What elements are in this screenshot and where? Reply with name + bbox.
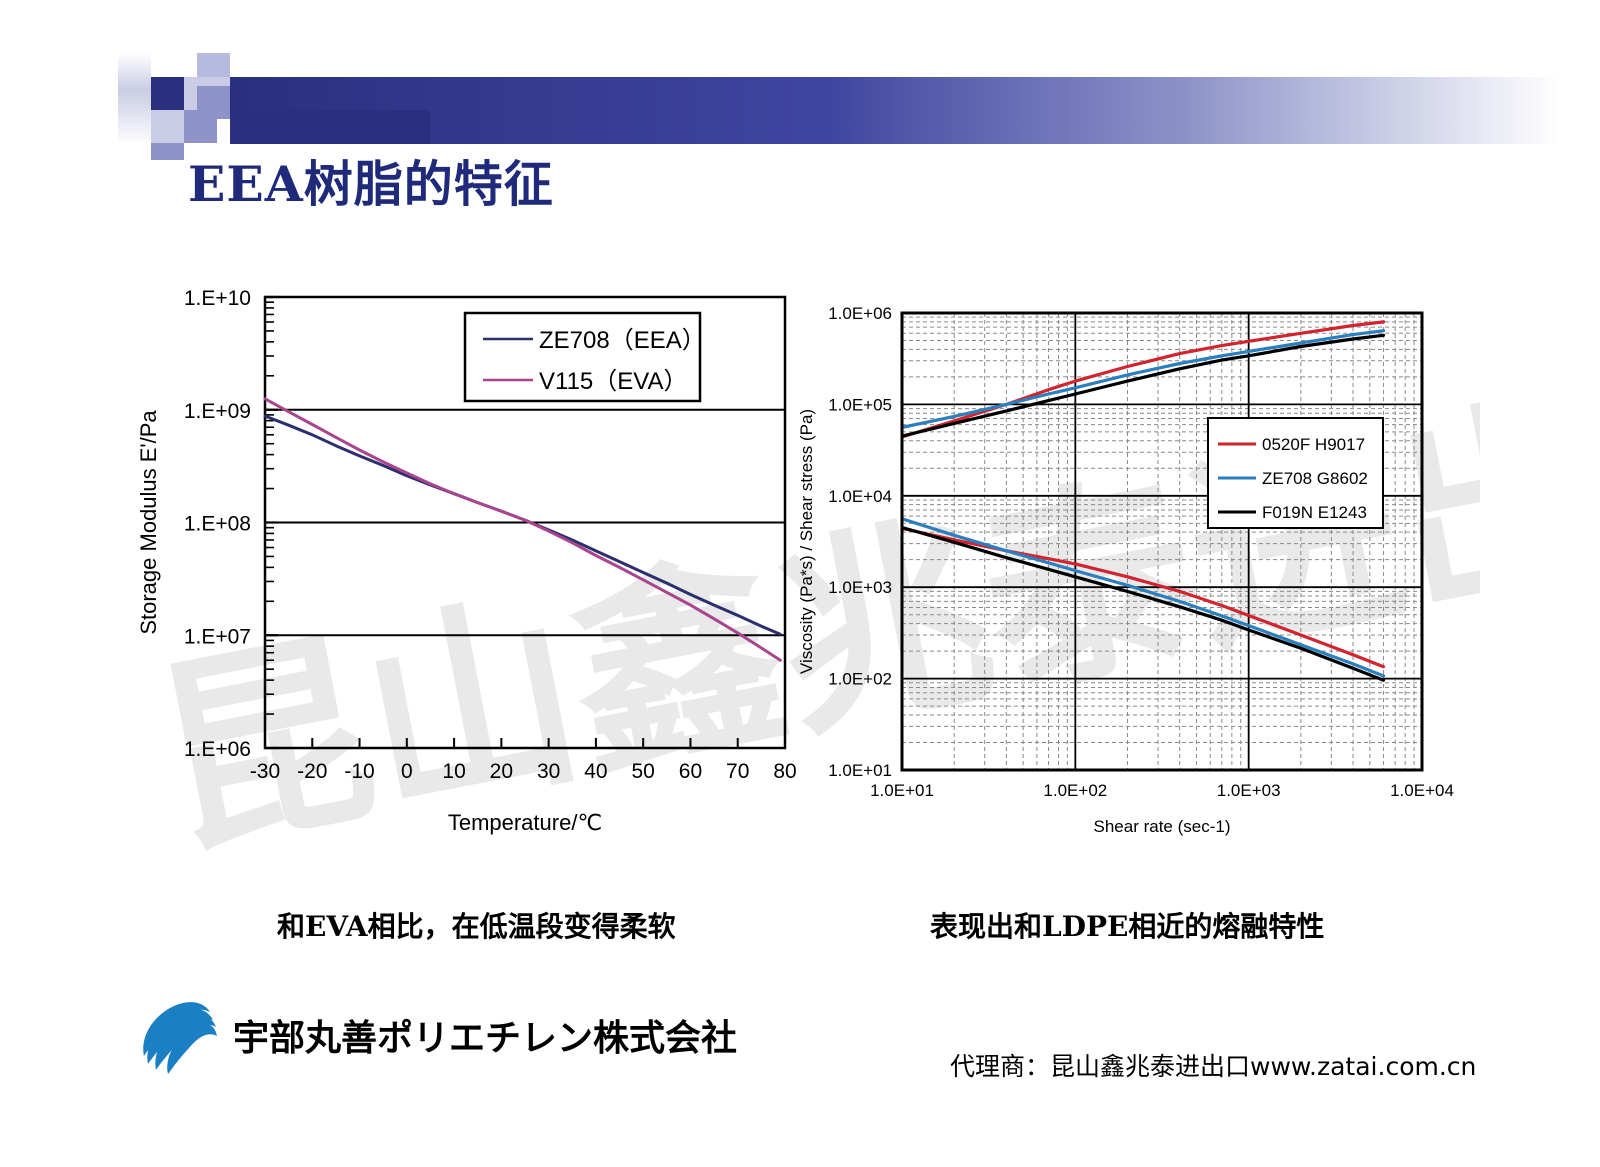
y-axis-title: Viscosity (Pa*s) / Shear stress (Pa) xyxy=(797,409,816,674)
caption-right: 表现出和LDPE相近的熔融特性 xyxy=(930,905,1324,945)
x-tick-label: -10 xyxy=(344,760,374,783)
legend-label: F019N E1243 xyxy=(1262,503,1367,522)
x-tick-label: 20 xyxy=(490,760,513,783)
plot-area xyxy=(902,313,1422,770)
legend-label: ZE708（EEA） xyxy=(539,327,706,354)
company-name: 宇部丸善ポリエチレン株式会社 xyxy=(233,1009,737,1061)
header-decoration-graphic xyxy=(0,0,1600,160)
x-tick-label: 0 xyxy=(401,760,413,783)
y-tick-label: 1.E+10 xyxy=(184,287,251,310)
x-tick-label: -30 xyxy=(250,760,280,783)
x-tick-label: 1.0E+03 xyxy=(1217,781,1281,800)
legend: 0520F H9017ZE708 G8602F019N E1243 xyxy=(1208,418,1383,528)
x-axis-title: Shear rate (sec-1) xyxy=(1094,817,1231,836)
x-tick-label: 60 xyxy=(679,760,702,783)
y-tick-label: 1.E+08 xyxy=(184,513,251,536)
legend: ZE708（EEA）V115（EVA） xyxy=(465,313,706,401)
storage-modulus-chart-svg: 1.E+061.E+071.E+081.E+091.E+10-30-20-100… xyxy=(120,270,820,860)
globe-logo-icon xyxy=(138,1000,218,1076)
y-tick-label: 1.0E+05 xyxy=(828,395,892,414)
x-tick-label: 1.0E+04 xyxy=(1390,781,1454,800)
legend-label: V115（EVA） xyxy=(539,368,688,395)
page-title: EEA树脂的特征 xyxy=(188,145,554,216)
viscosity-shear-chart-svg: 1.0E+011.0E+021.0E+031.0E+041.0E+051.0E+… xyxy=(790,290,1470,850)
storage-modulus-chart: 1.E+061.E+071.E+081.E+091.E+10-30-20-100… xyxy=(120,270,820,860)
legend-label: 0520F H9017 xyxy=(1262,435,1365,454)
y-tick-label: 1.0E+06 xyxy=(828,304,892,323)
x-axis-title: Temperature/℃ xyxy=(448,810,602,835)
x-tick-label: 1.0E+01 xyxy=(870,781,934,800)
y-tick-label: 1.E+09 xyxy=(184,400,251,423)
company-logo xyxy=(138,1000,218,1081)
x-tick-label: 10 xyxy=(442,760,465,783)
series-line xyxy=(902,528,1384,681)
x-tick-label: 70 xyxy=(726,760,749,783)
y-tick-label: 1.0E+04 xyxy=(828,487,892,506)
y-axis-title: Storage Modulus E'/Pa xyxy=(136,410,161,635)
y-tick-label: 1.0E+01 xyxy=(828,761,892,780)
y-tick-label: 1.E+06 xyxy=(184,738,251,761)
x-tick-label: 1.0E+02 xyxy=(1043,781,1107,800)
series-line xyxy=(265,416,780,634)
x-tick-label: 30 xyxy=(537,760,560,783)
agent-line: 代理商：昆山鑫兆泰进出口www.zatai.com.cn xyxy=(950,1047,1476,1083)
viscosity-shear-chart: 1.0E+011.0E+021.0E+031.0E+041.0E+051.0E+… xyxy=(790,290,1470,850)
header-decoration xyxy=(0,0,1600,160)
series-line xyxy=(265,399,780,661)
y-tick-label: 1.0E+03 xyxy=(828,578,892,597)
x-tick-label: -20 xyxy=(297,760,327,783)
y-tick-label: 1.E+07 xyxy=(184,625,251,648)
x-tick-label: 40 xyxy=(584,760,607,783)
caption-left: 和EVA相比，在低温段变得柔软 xyxy=(277,905,676,945)
y-tick-label: 1.0E+02 xyxy=(828,670,892,689)
legend-label: ZE708 G8602 xyxy=(1262,469,1368,488)
x-tick-label: 50 xyxy=(632,760,655,783)
slide-root: 昆山鑫兆泰进出口有限公司 xyxy=(0,0,1600,1167)
